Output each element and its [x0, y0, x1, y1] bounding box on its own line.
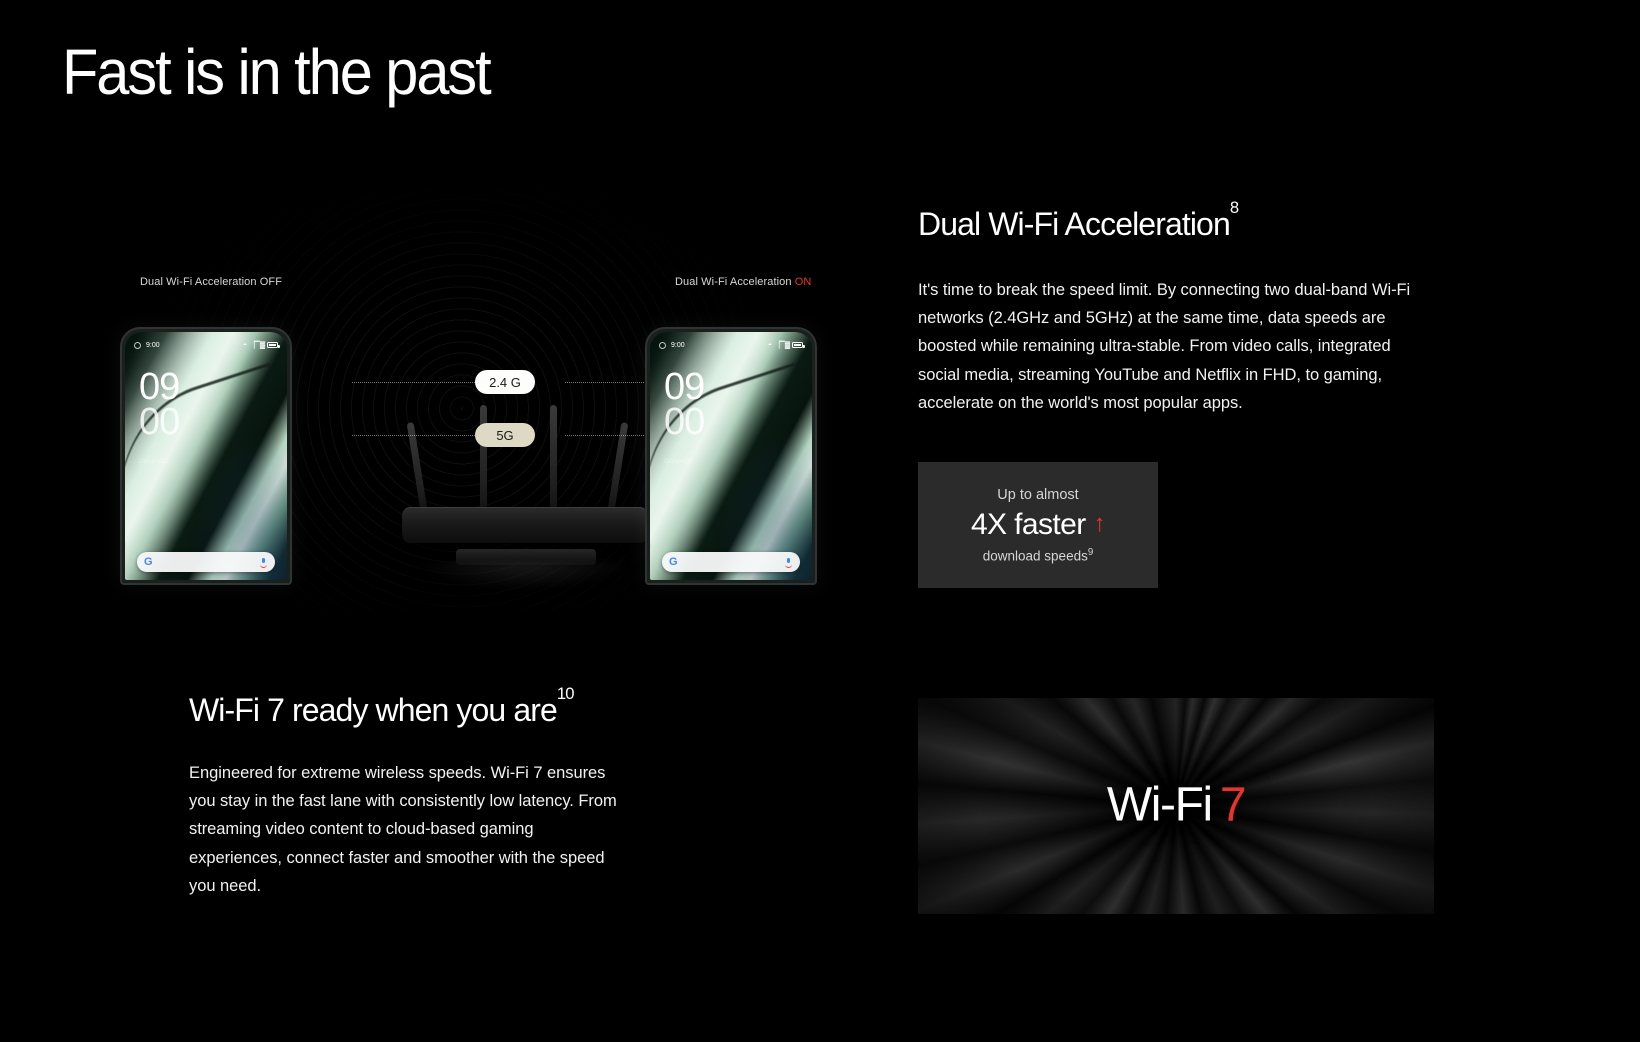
clock-minutes: 00	[139, 405, 179, 440]
google-search-bar-left[interactable]: G	[137, 552, 275, 572]
camera-punchhole-icon	[134, 342, 141, 349]
battery-icon	[792, 342, 803, 348]
figure-label-on-prefix: Dual Wi-Fi Acceleration	[675, 276, 795, 288]
router-antenna	[480, 405, 487, 517]
stat-card-value: 4X faster	[971, 509, 1086, 541]
phone-left-screen: 9:00 ◓ ▕▔▓ 09 00 OxygenOS G	[125, 332, 287, 580]
phone-left: 9:00 ◓ ▕▔▓ 09 00 OxygenOS G	[120, 327, 292, 585]
lockscreen-clock: 09 00	[139, 370, 179, 440]
clock-hours: 09	[139, 370, 179, 405]
camera-punchhole-icon	[659, 342, 666, 349]
wifi7-heading-text: Wi-Fi 7 ready when you are	[189, 692, 557, 728]
wifi7-heading: Wi-Fi 7 ready when you are10	[189, 692, 574, 729]
figure-label-on: Dual Wi-Fi Acceleration ON	[675, 276, 811, 288]
phone-right: 9:00 ◓ ▕▔▓ 09 00 OxygenOS G	[645, 327, 817, 585]
router-antenna	[550, 405, 557, 517]
banner-label: Wi-Fi	[1107, 778, 1212, 831]
router-antenna	[607, 422, 629, 517]
band-badge-24g: 2.4 G	[475, 370, 535, 394]
router-body	[402, 507, 648, 543]
dual-wifi-heading-footnote: 8	[1230, 198, 1238, 217]
up-arrow-icon: ↑	[1094, 512, 1105, 536]
stat-card-caption: download speeds9	[983, 547, 1094, 564]
router-reflection	[422, 563, 628, 589]
dual-wifi-heading-text: Dual Wi-Fi Acceleration	[918, 206, 1230, 242]
stat-card-value-row: 4X faster ↑	[971, 509, 1105, 541]
connector-line	[352, 382, 477, 383]
router-antenna	[407, 422, 429, 517]
stat-card-caption-text: download speeds	[983, 549, 1088, 564]
phone-right-statusbar: 9:00 ◓ ▕▔▓	[650, 339, 812, 351]
stat-card-eyebrow: Up to almost	[997, 487, 1078, 503]
status-time: 9:00	[146, 342, 160, 349]
stat-card-download-speed: Up to almost 4X faster ↑ download speeds…	[918, 462, 1158, 588]
microphone-icon[interactable]	[259, 558, 268, 567]
band-badge-5g: 5G	[475, 423, 535, 447]
banner-number: 7	[1220, 778, 1245, 831]
dual-wifi-illustration: Dual Wi-Fi Acceleration OFF Dual Wi-Fi A…	[62, 190, 862, 610]
microphone-icon[interactable]	[784, 558, 793, 567]
wifi7-heading-footnote: 10	[557, 684, 574, 703]
phone-left-statusbar: 9:00 ◓ ▕▔▓	[125, 339, 287, 351]
lockscreen-subtext: OxygenOS	[139, 458, 168, 467]
dual-wifi-body: It's time to break the speed limit. By c…	[918, 276, 1412, 417]
figure-label-on-state: ON	[795, 276, 812, 288]
status-indicators: ◓ ▕▔▓	[768, 342, 803, 349]
google-logo-icon: G	[669, 557, 678, 568]
connector-line	[352, 435, 477, 436]
wifi-icon: ◓	[768, 342, 772, 349]
lockscreen-subtext: OxygenOS	[664, 458, 693, 467]
lockscreen-clock: 09 00	[664, 370, 704, 440]
clock-minutes: 00	[664, 405, 704, 440]
banner-title: Wi-Fi7	[918, 777, 1434, 832]
phone-right-screen: 9:00 ◓ ▕▔▓ 09 00 OxygenOS G	[650, 332, 812, 580]
status-time: 9:00	[671, 342, 685, 349]
battery-icon	[267, 342, 278, 348]
signal-icon: ▕▔▓	[774, 342, 790, 349]
figure-label-off: Dual Wi-Fi Acceleration OFF	[140, 276, 282, 288]
google-search-bar-right[interactable]: G	[662, 552, 800, 572]
page-title: Fast is in the past	[62, 40, 490, 104]
wifi-icon: ◓	[243, 342, 247, 349]
stat-card-caption-footnote: 9	[1088, 547, 1093, 558]
wifi7-banner: Wi-Fi7	[918, 698, 1434, 914]
google-logo-icon: G	[144, 557, 153, 568]
wifi7-body: Engineered for extreme wireless speeds. …	[189, 759, 619, 900]
page-root: Fast is in the past Dual Wi-Fi Accelerat…	[0, 0, 1640, 1042]
signal-icon: ▕▔▓	[249, 342, 265, 349]
clock-hours: 09	[664, 370, 704, 405]
dual-wifi-heading: Dual Wi-Fi Acceleration8	[918, 206, 1238, 243]
status-indicators: ◓ ▕▔▓	[243, 342, 278, 349]
